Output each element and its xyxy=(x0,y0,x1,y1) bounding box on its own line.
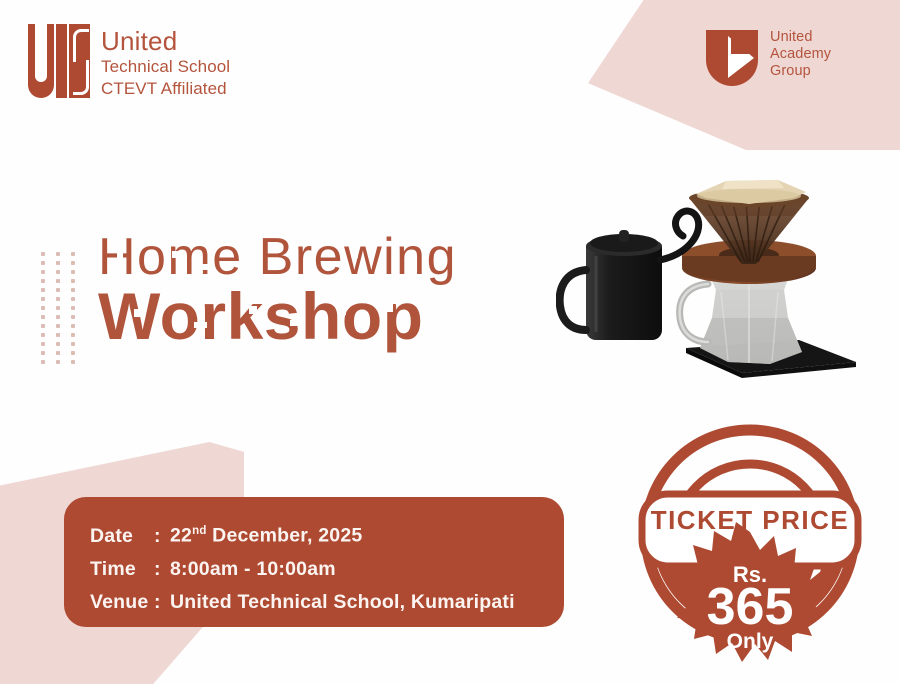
detail-separator-time: : xyxy=(154,553,170,586)
detail-separator-venue: : xyxy=(154,586,170,619)
school-name-line2: Technical School xyxy=(101,56,230,78)
detail-row-time: Time : 8:00am - 10:00am xyxy=(90,553,564,586)
detail-value-time: 8:00am - 10:00am xyxy=(170,553,336,586)
group-name-line2: Academy xyxy=(770,46,831,63)
detail-value-date: 22nd December, 2025 xyxy=(170,515,362,553)
stencil-slit-overlay xyxy=(98,280,578,352)
united-academy-u-mark-icon xyxy=(704,28,760,88)
badge-heading-label: TICKET PRICE xyxy=(651,505,850,535)
group-name-line1: United xyxy=(770,29,831,46)
group-logo-text: United Academy Group xyxy=(770,28,831,80)
detail-label-time: Time xyxy=(90,553,154,586)
detail-label-date: Date xyxy=(90,520,154,553)
school-logo-text: United Technical School CTEVT Affiliated xyxy=(101,24,230,100)
school-logo: United Technical School CTEVT Affiliated xyxy=(28,24,230,102)
page-title: Home Brewing Workshop xyxy=(98,228,578,352)
ticket-price-badge: TICKET PRICE Rs. 365 Only xyxy=(628,424,872,670)
poster-canvas: United Technical School CTEVT Affiliated… xyxy=(0,0,900,684)
headline-line1: Home Brewing xyxy=(98,228,578,286)
detail-value-venue: United Technical School, Kumaripati xyxy=(170,586,515,619)
uts-monogram-icon xyxy=(28,24,90,102)
detail-separator-date: : xyxy=(154,520,170,553)
badge-qualifier-label: Only xyxy=(727,630,774,653)
detail-row-date: Date : 22nd December, 2025 xyxy=(90,515,564,553)
badge-amount-label: 365 xyxy=(707,578,794,636)
detail-row-venue: Venue : United Technical School, Kumarip… xyxy=(90,586,564,619)
detail-label-venue: Venue xyxy=(90,586,154,619)
group-name-line3: Group xyxy=(770,63,831,80)
pour-over-coffee-set-illustration xyxy=(556,172,886,388)
group-logo: United Academy Group xyxy=(704,28,831,88)
dot-grid-decoration xyxy=(36,250,80,366)
headline-line2: Workshop xyxy=(98,280,578,352)
school-name-line3: CTEVT Affiliated xyxy=(101,78,230,100)
stencil-slit-overlay xyxy=(98,228,578,286)
school-name-line1: United xyxy=(101,26,230,56)
event-details-panel: Date : 22nd December, 2025 Time : 8:00am… xyxy=(64,497,564,627)
